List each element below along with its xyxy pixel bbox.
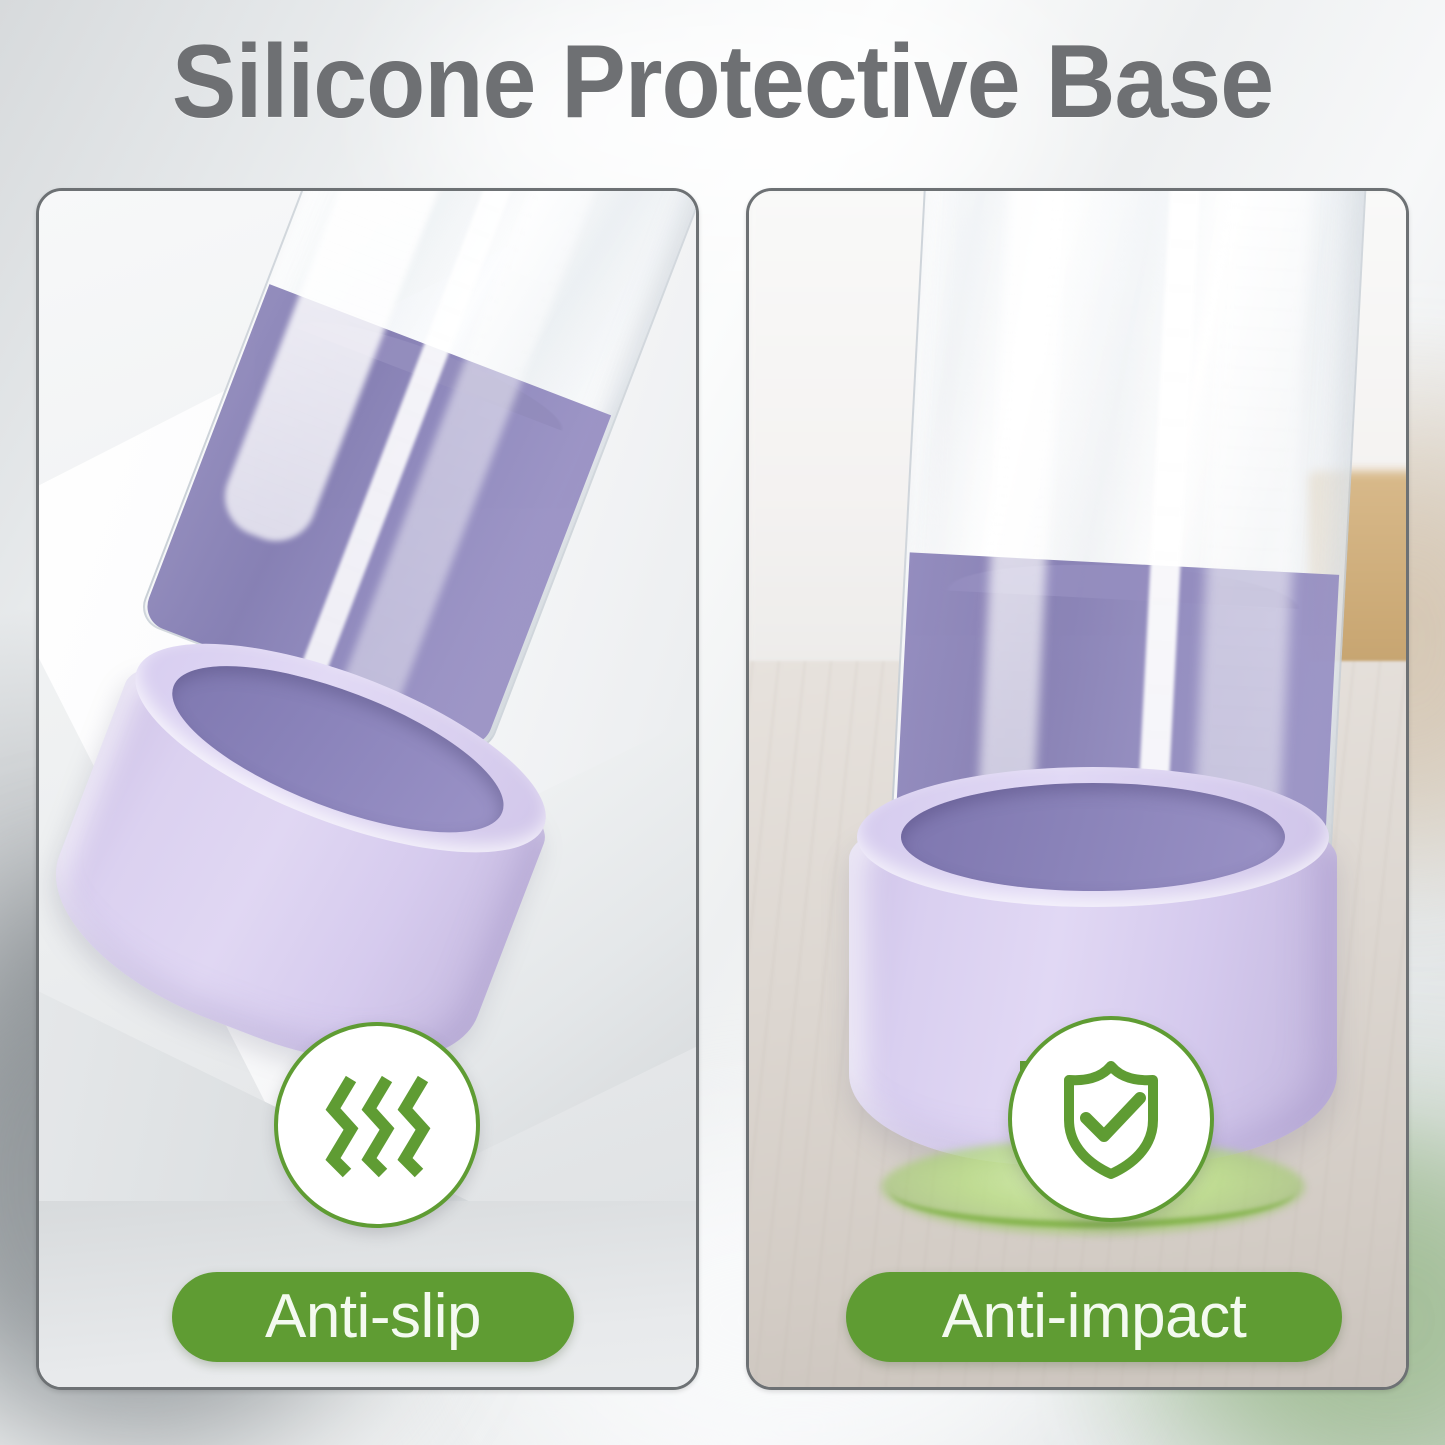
sleeve-inner-shadow [901, 783, 1285, 891]
anti-slip-badge-label: Anti-slip [265, 1286, 481, 1348]
anti-impact-icon-badge [1008, 1016, 1214, 1222]
shield-check-icon [1044, 1052, 1178, 1186]
zigzag-waves-icon [313, 1061, 441, 1189]
anti-impact-badge: Anti-impact [846, 1272, 1342, 1362]
anti-slip-badge: Anti-slip [172, 1272, 574, 1362]
product-infographic: Silicone Protective Base [0, 0, 1445, 1445]
anti-impact-badge-label: Anti-impact [942, 1286, 1247, 1348]
page-title: Silicone Protective Base [51, 28, 1395, 137]
anti-slip-icon-badge [274, 1022, 480, 1228]
